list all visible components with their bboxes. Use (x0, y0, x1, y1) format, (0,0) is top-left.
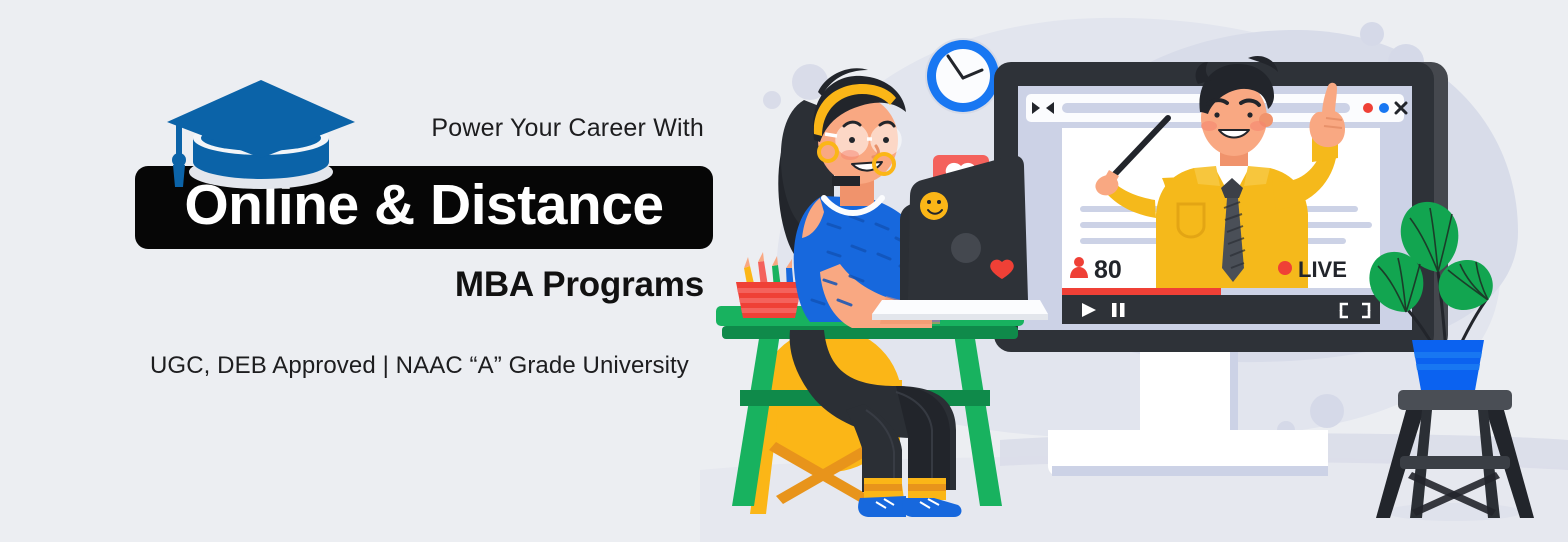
decor-bubble (763, 91, 781, 109)
subtitle-text: MBA Programs (0, 265, 704, 305)
graduation-cap-icon (163, 72, 359, 192)
live-dot-icon (1278, 261, 1292, 275)
headline-block: Power Your Career With Online & Distance… (0, 0, 760, 542)
status-dot-icon (1379, 103, 1389, 113)
record-dot-icon (1363, 103, 1373, 113)
wall-clock-icon (925, 38, 1001, 114)
online-learning-illustration: 80 LIVE (700, 0, 1568, 542)
decor-bubble (1310, 394, 1344, 428)
viewer-count-value: 80 (1094, 256, 1122, 284)
promo-banner: Power Your Career With Online & Distance… (0, 0, 1568, 542)
progress-fill (1062, 288, 1221, 295)
smiley-sticker-icon (920, 192, 948, 220)
control-bar (1062, 295, 1380, 324)
decor-bubble (1360, 22, 1384, 46)
accreditation-text: UGC, DEB Approved | NAAC “A” Grade Unive… (150, 352, 689, 380)
live-label: LIVE (1298, 257, 1347, 282)
